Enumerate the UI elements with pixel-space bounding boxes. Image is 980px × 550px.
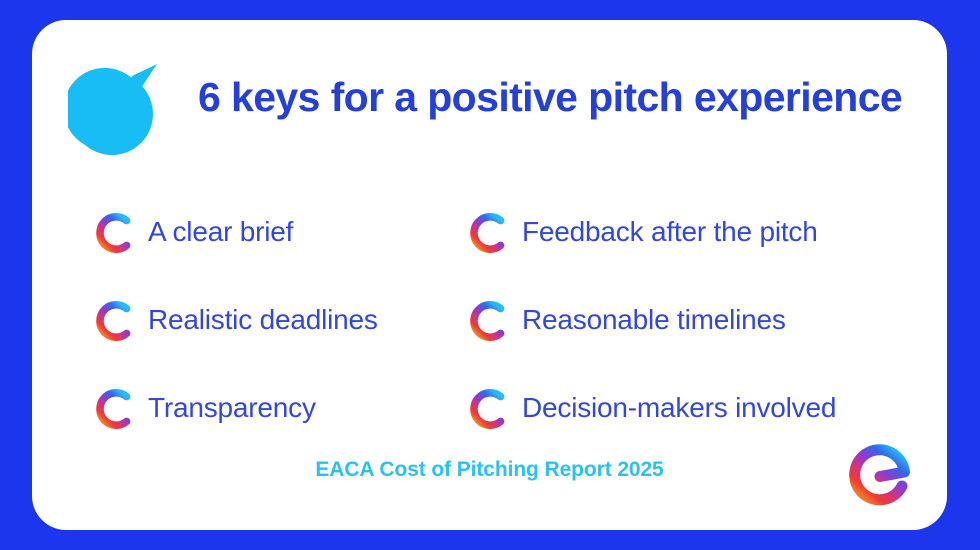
e-logo-icon (847, 442, 913, 508)
speech-bubble-icon (68, 62, 162, 156)
key-item-1: A clear brief (90, 188, 464, 276)
c-mark-icon (90, 387, 134, 431)
c-mark-icon (90, 211, 134, 255)
key-item-6: Decision-makers involved (464, 364, 920, 452)
poster-canvas: 6 keys for a positive pitch experience (0, 0, 980, 550)
key-item-2: Feedback after the pitch (464, 188, 920, 276)
c-mark-icon (464, 387, 508, 431)
key-item-4: Reasonable timelines (464, 276, 920, 364)
key-label: Transparency (148, 393, 316, 424)
key-label: Feedback after the pitch (522, 217, 818, 248)
page-title: 6 keys for a positive pitch experience (198, 74, 902, 121)
key-item-5: Transparency (90, 364, 464, 452)
source-caption: EACA Cost of Pitching Report 2025 (32, 458, 947, 482)
keys-list: A clear brief (90, 188, 920, 452)
key-label: Realistic deadlines (148, 305, 378, 336)
c-mark-icon (464, 299, 508, 343)
content-card: 6 keys for a positive pitch experience (32, 20, 947, 530)
key-item-3: Realistic deadlines (90, 276, 464, 364)
key-label: A clear brief (148, 217, 293, 248)
header: 6 keys for a positive pitch experience (68, 62, 928, 166)
key-label: Reasonable timelines (522, 305, 786, 336)
c-mark-icon (464, 211, 508, 255)
c-mark-icon (90, 299, 134, 343)
key-label: Decision-makers involved (522, 393, 836, 424)
